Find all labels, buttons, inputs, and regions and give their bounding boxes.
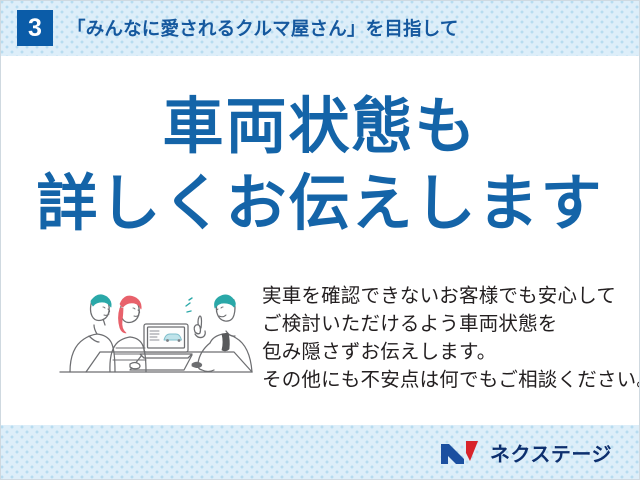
image-border — [0, 0, 640, 480]
headline: 車両状態も 詳しくお伝えします — [0, 96, 640, 234]
header: 3 「みんなに愛されるクルマ屋さん」を目指して — [0, 0, 640, 56]
consultation-illustration — [56, 274, 256, 392]
brand-logo: ネクステージ — [440, 438, 612, 467]
footer: ネクステージ — [0, 425, 640, 480]
figure-customer-male — [70, 295, 115, 372]
raised-hand — [194, 316, 205, 338]
headline-line-2: 詳しくお伝えします — [0, 173, 640, 234]
body-copy-line-4: その他にも不安点は何でもご相談ください。 — [262, 367, 614, 395]
body-copy: 実車を確認できないお客様でも安心して ご検討いただけるよう車両状態を 包み隠さず… — [262, 283, 614, 395]
body-copy-line-2: ご検討いただけるよう車両状態を — [262, 311, 614, 339]
nextage-n-logo-icon — [440, 439, 482, 466]
header-title: 「みんなに愛されるクルマ屋さん」を目指して — [67, 15, 459, 41]
consultation-illustration-svg — [56, 274, 256, 392]
figure-sales-staff — [194, 295, 252, 372]
body-copy-line-1: 実車を確認できないお客様でも安心して — [262, 283, 614, 311]
headline-line-1: 車両状態も — [0, 96, 640, 157]
advertisement-banner: 3 「みんなに愛されるクルマ屋さん」を目指して 車両状態も 詳しくお伝えします — [0, 0, 640, 480]
section-number-badge: 3 — [17, 10, 53, 46]
speech-marks — [186, 298, 192, 312]
brand-name: ネクステージ — [490, 438, 612, 467]
body-copy-line-3: 包み隠さずお伝えします。 — [262, 339, 614, 367]
laptop — [140, 324, 192, 358]
desk-pen — [192, 362, 202, 367]
